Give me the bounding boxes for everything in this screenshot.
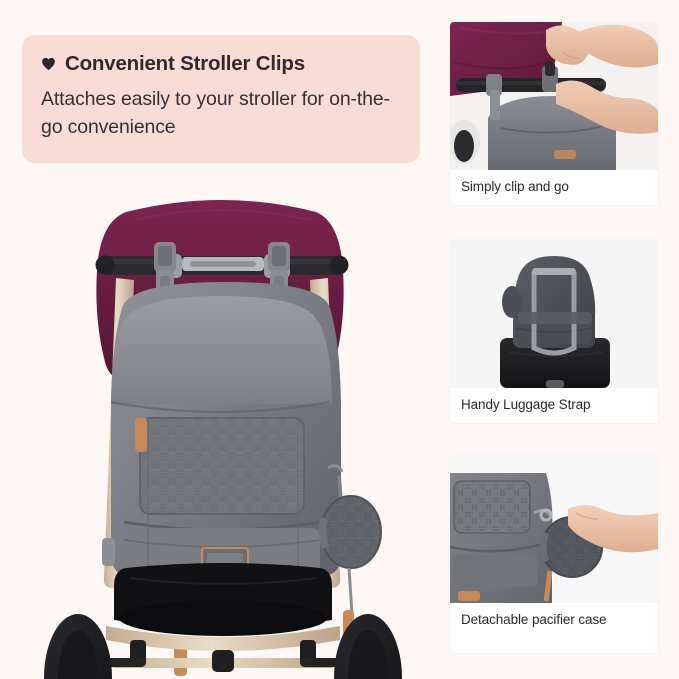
feature-title: Convenient Stroller Clips xyxy=(65,53,305,76)
thumbnail-image-pacifier-case xyxy=(450,455,658,603)
right-column-thumbnails: Simply clip and go xyxy=(450,0,665,679)
infographic-page: Convenient Stroller Clips Attaches easil… xyxy=(0,0,679,679)
thumbnail-caption-3: Detachable pacifier case xyxy=(450,603,658,636)
left-column: Convenient Stroller Clips Attaches easil… xyxy=(0,0,440,679)
feature-callout-card: Convenient Stroller Clips Attaches easil… xyxy=(22,35,420,163)
thumbnail-card-detachable-pacifier-case: Detachable pacifier case xyxy=(450,455,658,653)
thumbnail-caption-1: Simply clip and go xyxy=(450,170,658,203)
feature-body-text: Attaches easily to your stroller for on-… xyxy=(41,85,400,142)
hero-product-image xyxy=(6,180,440,679)
thumbnail-card-handy-luggage-strap: Handy Luggage Strap xyxy=(450,240,658,423)
thumbnail-image-luggage-strap xyxy=(450,240,658,388)
thumbnail-card-simply-clip-and-go: Simply clip and go xyxy=(450,22,658,205)
leather-trim xyxy=(458,591,480,601)
leather-pull-upper-left xyxy=(135,418,147,452)
heart-icon xyxy=(41,57,56,71)
feature-heading-row: Convenient Stroller Clips xyxy=(41,53,400,76)
thumbnail-caption-2: Handy Luggage Strap xyxy=(450,388,658,421)
thumbnail-image-clip-and-go xyxy=(450,22,658,170)
